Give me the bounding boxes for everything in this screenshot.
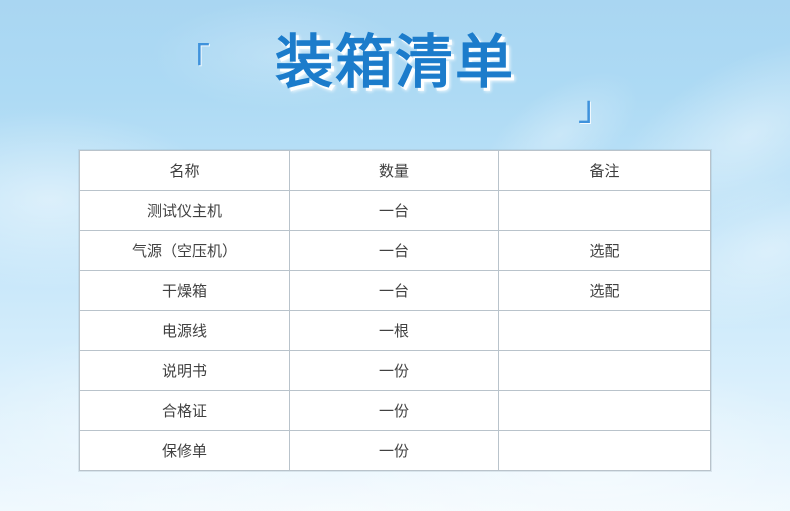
- cell-item-name: 合格证: [80, 391, 290, 431]
- table-row: 干燥箱一台选配: [80, 271, 711, 311]
- cell-item-quantity: 一台: [290, 191, 499, 231]
- horizon-haze: [0, 470, 790, 511]
- cell-item-remark: [499, 191, 711, 231]
- cell-item-remark: [499, 351, 711, 391]
- column-header-name: 名称: [80, 151, 290, 191]
- cell-item-remark: [499, 431, 711, 471]
- cell-item-name: 说明书: [80, 351, 290, 391]
- table-row: 保修单一份: [80, 431, 711, 471]
- page-root: 「 装箱清单 」 名称 数量 备注 测试仪主机一台气源（空压机）一台选配干燥箱一…: [0, 0, 790, 511]
- corner-bracket-close-icon: 」: [578, 92, 612, 126]
- table-header: 名称 数量 备注: [80, 151, 711, 191]
- table-row: 气源（空压机）一台选配: [80, 231, 711, 271]
- cell-item-name: 电源线: [80, 311, 290, 351]
- cell-item-quantity: 一台: [290, 271, 499, 311]
- cell-item-name: 干燥箱: [80, 271, 290, 311]
- cell-item-quantity: 一台: [290, 231, 499, 271]
- cell-item-name: 保修单: [80, 431, 290, 471]
- table-body: 测试仪主机一台气源（空压机）一台选配干燥箱一台选配电源线一根说明书一份合格证一份…: [80, 191, 711, 471]
- cell-item-remark: 选配: [499, 231, 711, 271]
- cell-item-remark: 选配: [499, 271, 711, 311]
- cell-item-quantity: 一份: [290, 351, 499, 391]
- packing-list-table: 名称 数量 备注 测试仪主机一台气源（空压机）一台选配干燥箱一台选配电源线一根说…: [79, 150, 711, 471]
- cell-item-name: 测试仪主机: [80, 191, 290, 231]
- cell-item-quantity: 一份: [290, 391, 499, 431]
- cell-item-remark: [499, 311, 711, 351]
- table-row: 测试仪主机一台: [80, 191, 711, 231]
- title-block: 「 装箱清单 」: [0, 22, 790, 122]
- column-header-qty: 数量: [290, 151, 499, 191]
- cell-item-quantity: 一根: [290, 311, 499, 351]
- table-header-row: 名称 数量 备注: [80, 151, 711, 191]
- cell-item-name: 气源（空压机）: [80, 231, 290, 271]
- cell-item-quantity: 一份: [290, 431, 499, 471]
- column-header-remark: 备注: [499, 151, 711, 191]
- table-row: 电源线一根: [80, 311, 711, 351]
- page-title: 装箱清单: [0, 30, 790, 96]
- cell-item-remark: [499, 391, 711, 431]
- table-row: 合格证一份: [80, 391, 711, 431]
- table-row: 说明书一份: [80, 351, 711, 391]
